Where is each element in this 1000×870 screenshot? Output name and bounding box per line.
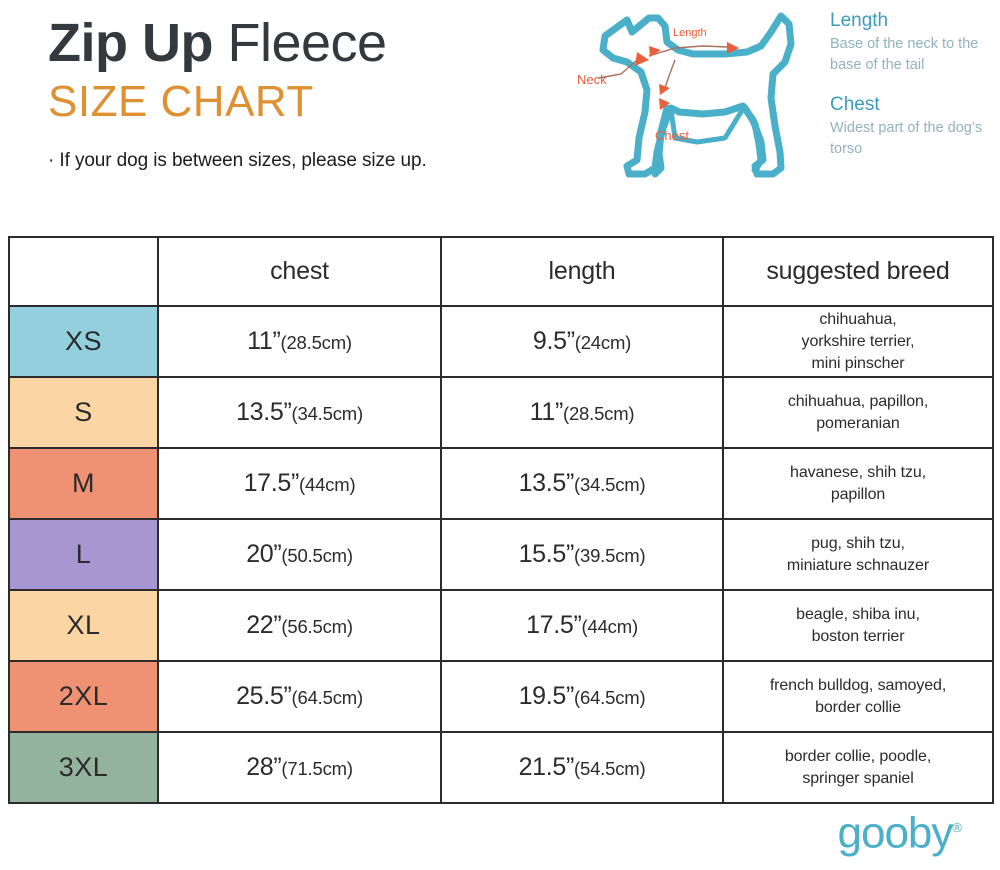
dog-silhouette-icon [603,16,791,174]
length-measurement-cm: (24cm) [575,332,631,353]
length-measurement-cm: (54.5cm) [574,758,645,779]
chest-measurement-cm: (56.5cm) [281,616,352,637]
sizing-note: · If your dog is between sizes, please s… [48,150,427,172]
table-header: chest length suggested breed [9,237,993,306]
chest-measurement-inches: 22” [246,611,281,639]
length-measurement-cm: (64.5cm) [574,687,645,708]
length-measurement: 9.5”(24cm) [441,306,723,377]
table-row: 2XL25.5”(64.5cm)19.5”(64.5cm)french bull… [9,661,993,732]
chest-measurement-cm: (34.5cm) [292,403,363,424]
suggested-breed: beagle, shiba inu, boston terrier [723,590,993,661]
length-measurement: 21.5”(54.5cm) [441,732,723,803]
legend-desc-chest: Widest part of the dog’s torso [830,118,995,160]
chest-measurement: 11”(28.5cm) [158,306,441,377]
chest-measurement-cm: (64.5cm) [292,687,363,708]
column-header-breed: suggested breed [723,237,993,306]
registered-trademark-icon: ® [952,820,962,835]
length-measurement-inches: 19.5” [519,682,574,710]
column-header-length: length [441,237,723,306]
chest-measurement-cm: (44cm) [299,474,355,495]
length-arrow-left-icon [649,46,661,57]
chest-measurement-inches: 13.5” [236,398,291,426]
table-header-row: chest length suggested breed [9,237,993,306]
length-measurement-cm: (34.5cm) [574,474,645,495]
size-label-xs: XS [9,306,158,377]
legend-desc-length: Base of the neck to the base of the tail [830,34,995,76]
header-section: Zip Up Fleece SIZE CHART · If your dog i… [0,0,1000,232]
suggested-breed: pug, shih tzu, miniature schnauzer [723,519,993,590]
chest-measurement: 25.5”(64.5cm) [158,661,441,732]
chest-measurement: 28”(71.5cm) [158,732,441,803]
length-measurement-inches: 13.5” [519,469,574,497]
page-subtitle: SIZE CHART [48,76,427,128]
length-measurement: 15.5”(39.5cm) [441,519,723,590]
suggested-breed: french bulldog, samoyed, border collie [723,661,993,732]
table-row: XL22”(56.5cm)17.5”(44cm)beagle, shiba in… [9,590,993,661]
dog-measurement-diagram: Neck Length Chest [575,2,825,202]
suggested-breed: border collie, poodle, springer spaniel [723,732,993,803]
length-measurement: 13.5”(34.5cm) [441,448,723,519]
page-title-rest: Fleece [213,13,387,73]
measurement-legend: Length Base of the neck to the base of t… [830,8,995,176]
logo-text: gooby [838,809,953,858]
legend-item-length: Length Base of the neck to the base of t… [830,8,995,76]
size-label-m: M [9,448,158,519]
chest-arrow-upper-icon [659,84,670,95]
table-row: M17.5”(44cm)13.5”(34.5cm)havanese, shih … [9,448,993,519]
table-row: XS11”(28.5cm)9.5”(24cm)chihuahua, yorksh… [9,306,993,377]
page-title: Zip Up Fleece [48,12,427,74]
length-measurement-inches: 21.5” [519,753,574,781]
title-block: Zip Up Fleece SIZE CHART · If your dog i… [48,12,427,172]
column-header-chest: chest [158,237,441,306]
length-measurement-cm: (28.5cm) [563,403,634,424]
chest-leader-line [665,60,675,88]
suggested-breed: chihuahua, yorkshire terrier, mini pinsc… [723,306,993,377]
length-measurement-cm: (44cm) [582,616,638,637]
length-measurement: 17.5”(44cm) [441,590,723,661]
length-measurement: 19.5”(64.5cm) [441,661,723,732]
chest-measurement: 22”(56.5cm) [158,590,441,661]
table-row: 3XL28”(71.5cm)21.5”(54.5cm)border collie… [9,732,993,803]
suggested-breed: chihuahua, papillon, pomeranian [723,377,993,448]
size-label-s: S [9,377,158,448]
size-label-2xl: 2XL [9,661,158,732]
dog-diagram-svg: Neck Length Chest [575,2,825,202]
chest-measurement-inches: 25.5” [236,682,291,710]
size-label-l: L [9,519,158,590]
gooby-logo: gooby® [838,804,962,858]
chest-measurement-inches: 28” [246,753,281,781]
table-row: S13.5”(34.5cm)11”(28.5cm)chihuahua, papi… [9,377,993,448]
suggested-breed: havanese, shih tzu, papillon [723,448,993,519]
size-label-xl: XL [9,590,158,661]
length-measurement: 11”(28.5cm) [441,377,723,448]
chest-measurement-cm: (28.5cm) [281,332,352,353]
length-measurement-inches: 15.5” [519,540,574,568]
page-title-bold: Zip Up [48,13,213,73]
neck-arrow-icon [635,52,649,66]
chest-measurement-cm: (50.5cm) [281,545,352,566]
table-row: L20”(50.5cm)15.5”(39.5cm)pug, shih tzu, … [9,519,993,590]
chest-measurement-inches: 20” [246,540,281,568]
legend-title-length: Length [830,8,995,34]
diagram-label-chest: Chest [655,128,689,143]
length-measurement-inches: 11” [530,398,563,426]
length-measurement-inches: 17.5” [526,611,581,639]
legend-title-chest: Chest [830,92,995,118]
chest-measurement: 20”(50.5cm) [158,519,441,590]
diagram-label-neck: Neck [577,72,607,87]
chest-measurement-inches: 11” [247,327,280,355]
length-measurement-inches: 9.5” [533,327,575,355]
table-body: XS11”(28.5cm)9.5”(24cm)chihuahua, yorksh… [9,306,993,803]
legend-item-chest: Chest Widest part of the dog’s torso [830,92,995,160]
chest-measurement-inches: 17.5” [244,469,299,497]
size-chart-table: chest length suggested breed XS11”(28.5c… [8,236,994,804]
chest-measurement: 13.5”(34.5cm) [158,377,441,448]
chest-measurement: 17.5”(44cm) [158,448,441,519]
size-label-3xl: 3XL [9,732,158,803]
chest-measurement-cm: (71.5cm) [281,758,352,779]
diagram-label-length: Length [673,27,707,39]
column-header-size [9,237,158,306]
length-measurement-cm: (39.5cm) [574,545,645,566]
